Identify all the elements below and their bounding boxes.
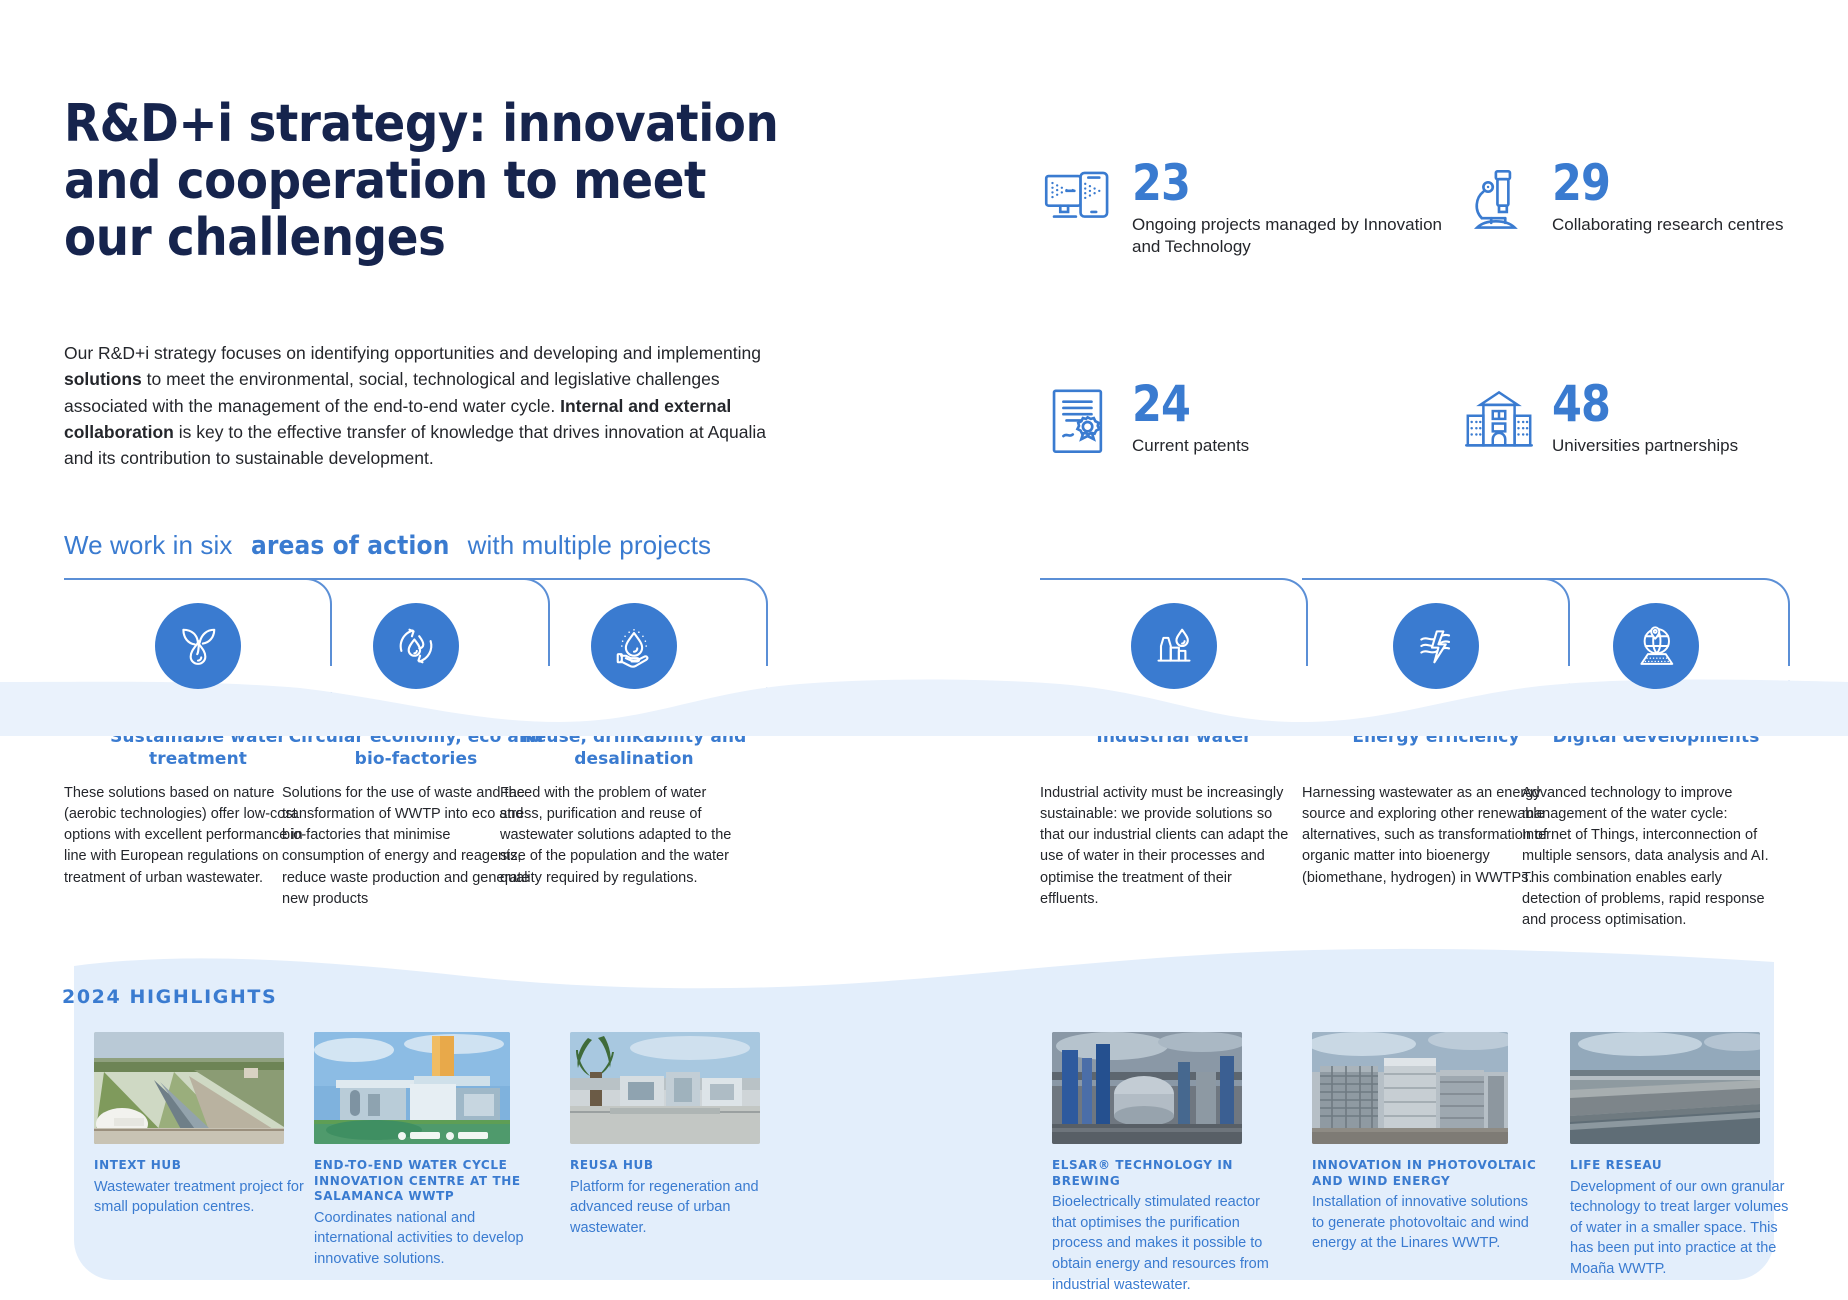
- stats-block: 23 Ongoing projects managed by Innovatio…: [1040, 158, 1830, 461]
- stat-label: Collaborating research centres: [1552, 214, 1784, 237]
- leaf-droplet-icon: [155, 603, 241, 689]
- globe-keyboard-icon: [1613, 603, 1699, 689]
- stat-ongoing-projects: 23 Ongoing projects managed by Innovatio…: [1040, 158, 1460, 259]
- innovation-centre-photo: [314, 1032, 510, 1144]
- stat-value: 29: [1552, 160, 1751, 208]
- area-text: These solutions based on nature (aerobic…: [64, 783, 314, 889]
- patent-certificate-icon: [1040, 383, 1118, 461]
- factory-droplet-icon: [1131, 603, 1217, 689]
- stats-row-bottom: 24 Current patents: [1040, 379, 1830, 461]
- intro-paragraph: Our R&D+i strategy focuses on identifyin…: [64, 340, 789, 471]
- stat-universities: 48 Universities partnerships: [1460, 379, 1830, 461]
- stat-current-patents: 24 Current patents: [1040, 379, 1460, 461]
- areas-of-action: Sustainable water treatment These soluti…: [0, 578, 1848, 918]
- wave-shadow-decoration: [0, 666, 1848, 736]
- stat-research-centres: 29 Collaborating research centres: [1460, 158, 1830, 259]
- highlight-caption-title: LIFE RESEAU: [1570, 1158, 1802, 1174]
- photovoltaic-tanks-photo: [1312, 1032, 1508, 1144]
- highlight-item[interactable]: INNOVATION IN PHOTOVOLTAIC AND WIND ENER…: [1312, 1032, 1544, 1254]
- highlight-item[interactable]: INTEXT HUB Wastewater treatment project …: [94, 1032, 326, 1218]
- highlights-title: 2024 HIGHLIGHTS: [62, 986, 277, 1008]
- microscope-icon: [1460, 162, 1538, 240]
- area-text: Faced with the problem of water stress, …: [500, 783, 750, 889]
- areas-heading-emphasis: areas of action: [251, 531, 449, 561]
- areas-heading: We work in six areas of action with mult…: [64, 530, 711, 561]
- page-title-line: R&D+i strategy: innovation: [64, 94, 778, 154]
- highlight-caption-text: Platform for regeneration and advanced r…: [570, 1177, 802, 1239]
- brewery-reactor-photo: [1052, 1032, 1242, 1144]
- circular-droplet-icon: [373, 603, 459, 689]
- highlight-caption-text: Wastewater treatment project for small p…: [94, 1177, 326, 1218]
- highlight-item[interactable]: END-TO-END WATER CYCLE INNOVATION CENTRE…: [314, 1032, 546, 1270]
- area-text: Industrial activity must be increasingly…: [1040, 783, 1290, 910]
- highlight-item[interactable]: ELSAR® TECHNOLOGY IN BREWING Bioelectric…: [1052, 1032, 1284, 1295]
- highlight-caption-text: Coordinates national and international a…: [314, 1208, 546, 1270]
- highlight-caption-text: Installation of innovative solutions to …: [1312, 1192, 1544, 1254]
- area-text: Advanced technology to improve managemen…: [1522, 783, 1772, 931]
- highlight-caption-text: Development of our own granular technolo…: [1570, 1177, 1802, 1280]
- highlight-caption-title: INNOVATION IN PHOTOVOLTAIC AND WIND ENER…: [1312, 1158, 1544, 1189]
- stat-label: Ongoing projects managed by Innovation a…: [1132, 214, 1460, 260]
- highlights-panel: 2024 HIGHLIGHTS: [34, 928, 1814, 1280]
- highlight-caption-title: REUSA HUB: [570, 1158, 802, 1174]
- stat-value: 48: [1552, 381, 1712, 429]
- monitor-phone-icon: [1040, 162, 1118, 240]
- page-title-line: and cooperation to meet: [64, 151, 706, 211]
- university-building-icon: [1460, 383, 1538, 461]
- area-text: Harnessing wastewater as an energy sourc…: [1302, 783, 1552, 889]
- stats-row-top: 23 Ongoing projects managed by Innovatio…: [1040, 158, 1830, 259]
- area-text: Solutions for the use of waste and the t…: [282, 783, 532, 910]
- highlight-item[interactable]: REUSA HUB Platform for regeneration and …: [570, 1032, 802, 1238]
- reusa-plant-photo: [570, 1032, 760, 1144]
- highlight-caption-text: Bioelectrically stimulated reactor that …: [1052, 1192, 1284, 1295]
- stat-value: 24: [1132, 381, 1233, 429]
- hand-droplet-icon: [591, 603, 677, 689]
- stat-label: Universities partnerships: [1552, 435, 1738, 458]
- stat-label: Current patents: [1132, 435, 1249, 458]
- infographic-page: R&D+i strategy: innovationand cooperatio…: [0, 0, 1848, 1300]
- highlight-caption-title: INTEXT HUB: [94, 1158, 326, 1174]
- highlight-item[interactable]: LIFE RESEAU Development of our own granu…: [1570, 1032, 1802, 1279]
- wastewater-lagoon-photo: [94, 1032, 284, 1144]
- highlight-caption-title: ELSAR® TECHNOLOGY IN BREWING: [1052, 1158, 1284, 1189]
- page-title-line: our challenges: [64, 208, 445, 268]
- highlight-caption-title: END-TO-END WATER CYCLE INNOVATION CENTRE…: [314, 1158, 546, 1205]
- energy-wave-icon: [1393, 603, 1479, 689]
- granular-treatment-photo: [1570, 1032, 1760, 1144]
- page-title: R&D+i strategy: innovationand cooperatio…: [64, 96, 820, 268]
- stat-value: 23: [1132, 160, 1414, 208]
